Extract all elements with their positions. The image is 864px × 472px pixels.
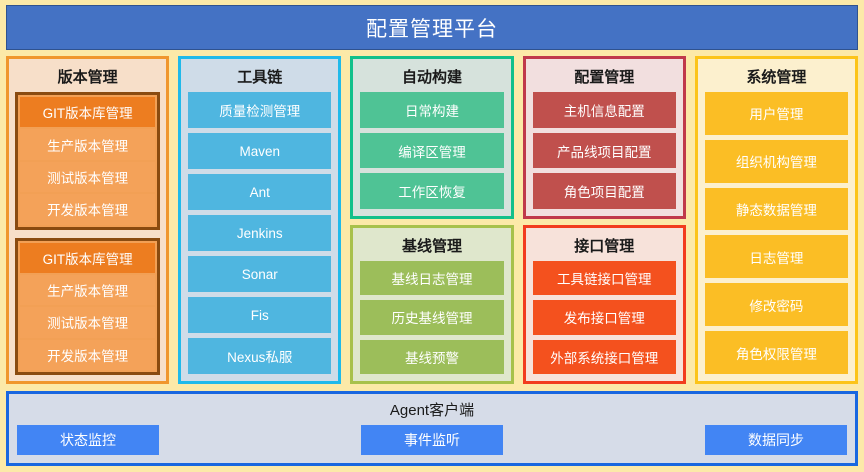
interface-item-toolchain-api[interactable]: 工具链接口管理 (533, 261, 676, 295)
version-item-git-repo-1[interactable]: GIT版本库管理 (20, 97, 155, 127)
panel-auto-build: 自动构建 日常构建 编译区管理 工作区恢复 (350, 56, 513, 219)
config-item-role-project[interactable]: 角色项目配置 (533, 173, 676, 209)
panel-agent-client: Agent客户端 状态监控 事件监听 数据同步 (6, 391, 858, 466)
build-item-compile-area[interactable]: 编译区管理 (360, 133, 503, 169)
system-item-log-management[interactable]: 日志管理 (705, 235, 848, 278)
panel-interface-management: 接口管理 工具链接口管理 发布接口管理 外部系统接口管理 (523, 225, 686, 384)
toolchain-item-fis[interactable]: Fis (188, 297, 331, 333)
system-item-static-data[interactable]: 静态数据管理 (705, 188, 848, 231)
page-header: 配置管理平台 (6, 5, 858, 50)
interface-item-release-api[interactable]: 发布接口管理 (533, 300, 676, 334)
build-item-workspace-recovery[interactable]: 工作区恢复 (360, 173, 503, 209)
version-item-dev-1[interactable]: 开发版本管理 (20, 194, 155, 224)
version-item-test-1[interactable]: 测试版本管理 (20, 162, 155, 192)
toolchain-item-ant[interactable]: Ant (188, 174, 331, 210)
version-item-dev-2[interactable]: 开发版本管理 (20, 340, 155, 370)
panel-system-management: 系统管理 用户管理 组织机构管理 静态数据管理 日志管理 修改密码 角色权限管理 (695, 56, 858, 384)
build-item-daily-build[interactable]: 日常构建 (360, 92, 503, 128)
panel-title-config-management: 配置管理 (533, 63, 676, 92)
baseline-items: 基线日志管理 历史基线管理 基线预警 (360, 261, 503, 374)
version-item-test-2[interactable]: 测试版本管理 (20, 307, 155, 337)
auto-build-items: 日常构建 编译区管理 工作区恢复 (360, 92, 503, 209)
column-system-management: 系统管理 用户管理 组织机构管理 静态数据管理 日志管理 修改密码 角色权限管理 (695, 56, 858, 384)
interface-item-external-system-api[interactable]: 外部系统接口管理 (533, 340, 676, 374)
interface-items: 工具链接口管理 发布接口管理 外部系统接口管理 (533, 261, 676, 374)
column-version-management: 版本管理 GIT版本库管理 生产版本管理 测试版本管理 开发版本管理 GIT版本… (6, 56, 169, 384)
system-item-organization[interactable]: 组织机构管理 (705, 140, 848, 183)
panel-title-agent-client: Agent客户端 (17, 398, 847, 425)
system-item-user-management[interactable]: 用户管理 (705, 92, 848, 135)
panel-title-version-management: 版本管理 (15, 63, 160, 92)
configuration-management-platform-diagram: 配置管理平台 版本管理 GIT版本库管理 生产版本管理 测试版本管理 开发版本管… (0, 0, 864, 472)
agent-button-data-sync[interactable]: 数据同步 (705, 425, 847, 455)
version-item-production-2[interactable]: 生产版本管理 (20, 275, 155, 305)
toolchain-items: 质量检测管理 Maven Ant Jenkins Sonar Fis Nexus… (188, 92, 331, 374)
columns-container: 版本管理 GIT版本库管理 生产版本管理 测试版本管理 开发版本管理 GIT版本… (6, 56, 858, 384)
system-items: 用户管理 组织机构管理 静态数据管理 日志管理 修改密码 角色权限管理 (705, 92, 848, 374)
version-item-git-repo-2[interactable]: GIT版本库管理 (20, 243, 155, 273)
agent-buttons: 状态监控 事件监听 数据同步 (17, 425, 847, 455)
toolchain-item-sonar[interactable]: Sonar (188, 256, 331, 292)
panel-title-interface-management: 接口管理 (533, 232, 676, 261)
toolchain-item-nexus[interactable]: Nexus私服 (188, 338, 331, 374)
baseline-item-log[interactable]: 基线日志管理 (360, 261, 503, 295)
panel-title-toolchain: 工具链 (188, 63, 331, 92)
column-toolchain: 工具链 质量检测管理 Maven Ant Jenkins Sonar Fis N… (178, 56, 341, 384)
agent-button-event-listener[interactable]: 事件监听 (361, 425, 503, 455)
toolchain-item-quality-detection[interactable]: 质量检测管理 (188, 92, 331, 128)
config-item-host-info[interactable]: 主机信息配置 (533, 92, 676, 128)
version-group-1: GIT版本库管理 生产版本管理 测试版本管理 开发版本管理 (15, 92, 160, 230)
panel-config-management: 配置管理 主机信息配置 产品线项目配置 角色项目配置 (523, 56, 686, 219)
page-title: 配置管理平台 (366, 13, 498, 43)
panel-version-management: 版本管理 GIT版本库管理 生产版本管理 测试版本管理 开发版本管理 GIT版本… (6, 56, 169, 384)
version-group-2: GIT版本库管理 生产版本管理 测试版本管理 开发版本管理 (15, 238, 160, 376)
panel-title-baseline-management: 基线管理 (360, 232, 503, 261)
system-item-change-password[interactable]: 修改密码 (705, 283, 848, 326)
version-item-production-1[interactable]: 生产版本管理 (20, 129, 155, 159)
config-item-product-line-project[interactable]: 产品线项目配置 (533, 133, 676, 169)
config-items: 主机信息配置 产品线项目配置 角色项目配置 (533, 92, 676, 209)
column-build-baseline: 自动构建 日常构建 编译区管理 工作区恢复 基线管理 基线日志管理 历史基线管理… (350, 56, 513, 384)
toolchain-item-jenkins[interactable]: Jenkins (188, 215, 331, 251)
column-config-interface: 配置管理 主机信息配置 产品线项目配置 角色项目配置 接口管理 工具链接口管理 … (523, 56, 686, 384)
panel-title-system-management: 系统管理 (705, 63, 848, 92)
system-item-role-permission[interactable]: 角色权限管理 (705, 331, 848, 374)
toolchain-item-maven[interactable]: Maven (188, 133, 331, 169)
panel-toolchain: 工具链 质量检测管理 Maven Ant Jenkins Sonar Fis N… (178, 56, 341, 384)
baseline-item-alert[interactable]: 基线预警 (360, 340, 503, 374)
panel-title-auto-build: 自动构建 (360, 63, 503, 92)
panel-baseline-management: 基线管理 基线日志管理 历史基线管理 基线预警 (350, 225, 513, 384)
baseline-item-history[interactable]: 历史基线管理 (360, 300, 503, 334)
agent-button-status-monitor[interactable]: 状态监控 (17, 425, 159, 455)
